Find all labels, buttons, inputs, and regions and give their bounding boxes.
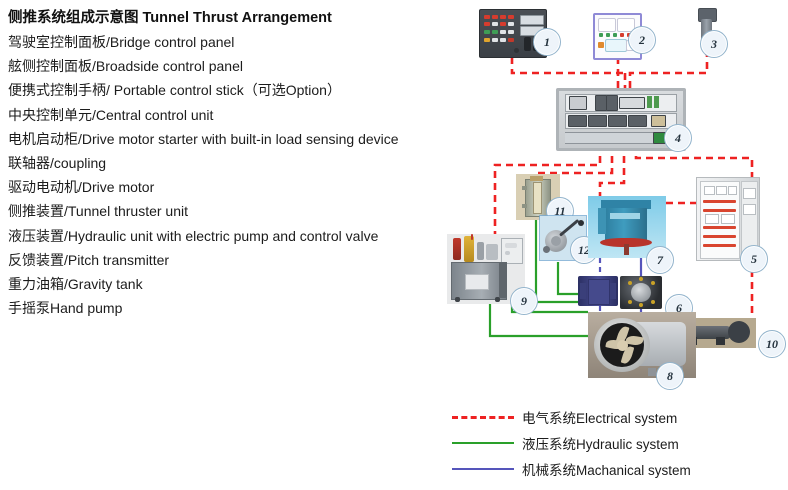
coupling-image (620, 276, 662, 309)
legend-label-electrical: 电气系统Electrical system (522, 407, 677, 427)
badge-8: 8 (656, 362, 684, 390)
legend-row-mechanical: 机械系统Machanical system (452, 456, 782, 482)
legend-row-electrical: 电气系统Electrical system (452, 404, 782, 430)
badge-7: 7 (646, 246, 674, 274)
coupling-secondary-image (578, 276, 618, 306)
badge-9: 9 (510, 287, 538, 315)
badge-3: 3 (700, 30, 728, 58)
badge-10: 10 (758, 330, 786, 358)
coupling-secondary[interactable] (578, 276, 618, 306)
coupling[interactable] (620, 276, 662, 309)
central-control-unit[interactable] (556, 88, 680, 145)
badge-2: 2 (628, 26, 656, 54)
wire-legend: 电气系统Electrical system 液压系统Hydraulic syst… (452, 404, 782, 482)
badge-5: 5 (740, 245, 768, 273)
legend-row-hydraulic: 液压系统Hydraulic system (452, 430, 782, 456)
badge-4: 4 (664, 124, 692, 152)
legend-label-hydraulic: 液压系统Hydraulic system (522, 433, 679, 453)
badge-1: 1 (533, 28, 561, 56)
legend-label-mechanical: 机械系统Machanical system (522, 459, 691, 479)
